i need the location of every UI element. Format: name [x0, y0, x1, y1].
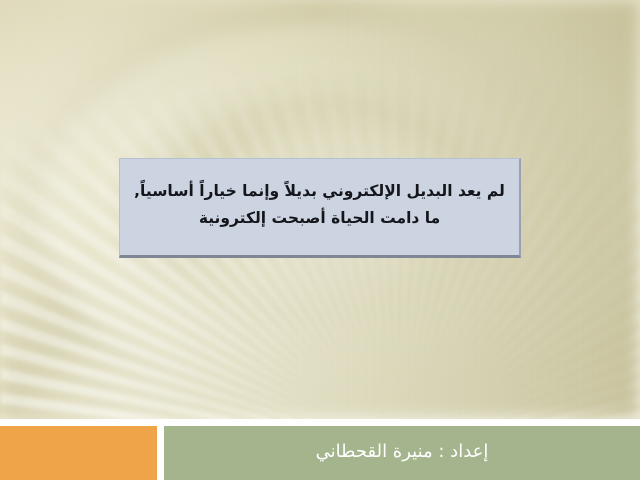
quote-text-box: لم يعد البديل الإلكتروني بديلاً وإنما خي…: [119, 158, 521, 258]
author-credit: إعداد : منيرة القحطاني: [316, 441, 489, 465]
presentation-slide: لم يعد البديل الإلكتروني بديلاً وإنما خي…: [0, 0, 640, 480]
footer-accent-block: [0, 426, 157, 480]
quote-text: لم يعد البديل الإلكتروني بديلاً وإنما خي…: [134, 178, 505, 231]
footer-bar: إعداد : منيرة القحطاني: [164, 426, 640, 480]
